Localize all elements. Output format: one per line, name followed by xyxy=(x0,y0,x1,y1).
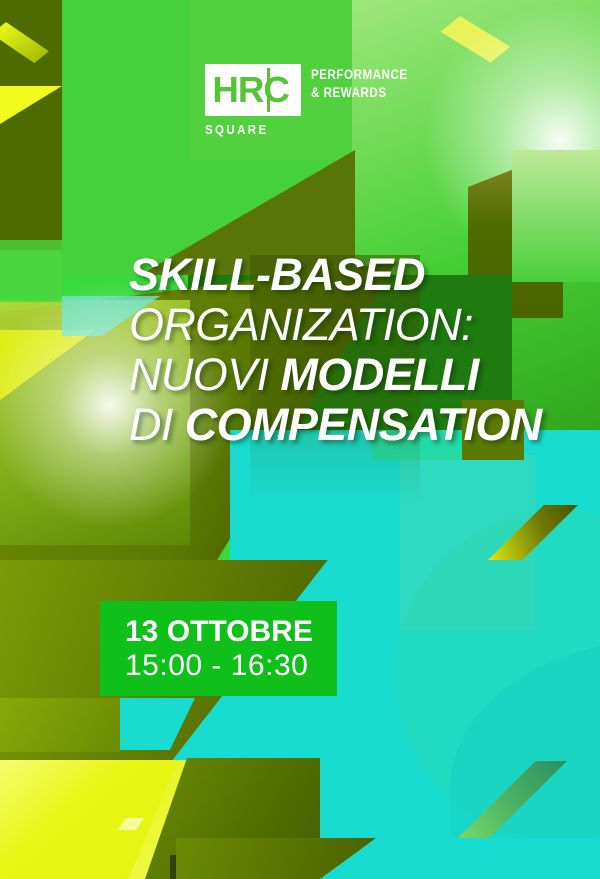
logo-hrc-text: HRC xyxy=(205,72,289,108)
title-line-1: SKILL-BASED xyxy=(129,250,542,300)
logo-divider xyxy=(267,68,270,112)
title-line-3-bold: MODELLI xyxy=(280,349,478,400)
event-date-panel: 13 OTTOBRE 15:00 - 16:30 xyxy=(100,601,337,696)
title-line-4-light: DI xyxy=(129,399,185,450)
brand-logo: HRC SQUARE xyxy=(205,64,301,137)
title-line-4: DI COMPENSATION xyxy=(129,400,542,450)
event-poster: HRC SQUARE PERFORMANCE & REWARDS SKILL-B… xyxy=(0,0,600,879)
bg-lime-band-lowerleft xyxy=(0,698,120,752)
event-time: 15:00 - 16:30 xyxy=(125,649,337,683)
logo-mark: HRC xyxy=(205,64,301,116)
title-line-4-bold: COMPENSATION xyxy=(185,399,542,450)
bg-green-soft-left xyxy=(0,240,62,302)
brand-tagline: PERFORMANCE & REWARDS xyxy=(311,66,408,102)
title-line-2: ORGANIZATION: xyxy=(129,300,542,350)
title-line-3-light: NUOVI xyxy=(129,349,280,400)
title-line-3: NUOVI MODELLI xyxy=(129,350,542,400)
event-date: 13 OTTOBRE xyxy=(125,615,337,649)
page-title: SKILL-BASED ORGANIZATION: NUOVI MODELLI … xyxy=(129,250,542,450)
logo-square-text: SQUARE xyxy=(205,123,269,137)
